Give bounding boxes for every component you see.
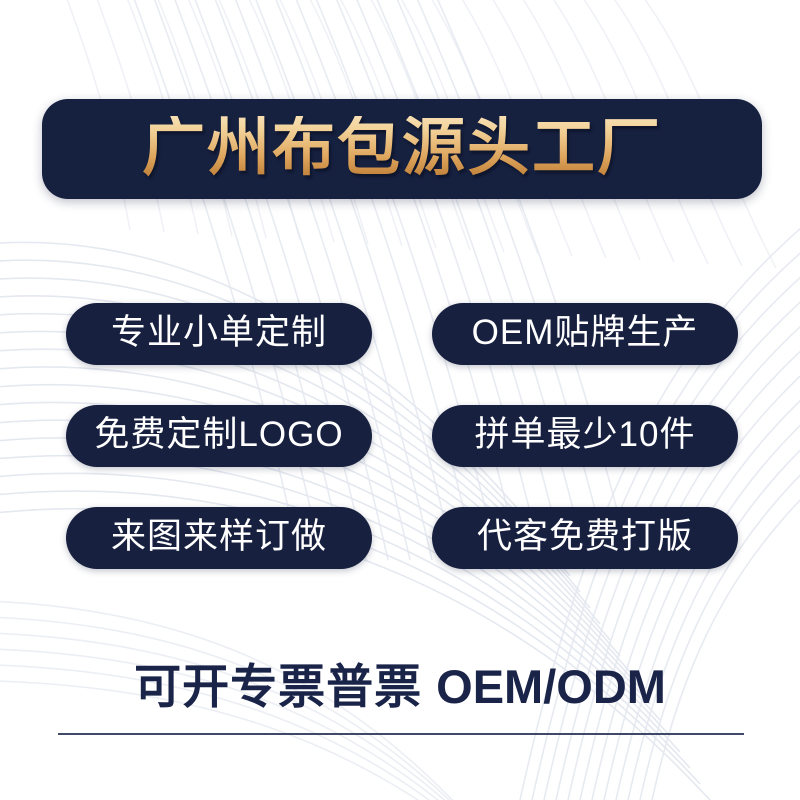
feature-custom-small-orders[interactable]: 专业小单定制 [66,303,372,365]
pill-label: OEM贴牌生产 [472,315,699,353]
pill-label: 拼单最少10件 [475,417,696,455]
pill-label: 免费定制LOGO [94,417,343,455]
feature-oem-production[interactable]: OEM贴牌生产 [432,303,738,365]
feature-min-order-10[interactable]: 拼单最少10件 [432,405,738,467]
pill-label: 代客免费打版 [477,519,693,557]
footer-chinese-text: 可开专票普票 [134,660,422,713]
feature-free-sampling[interactable]: 代客免费打版 [432,507,738,569]
footer-divider [58,733,744,735]
feature-pill-grid: 专业小单定制 OEM贴牌生产 免费定制LOGO 拼单最少10件 来图来样订做 代… [66,303,738,569]
pill-label: 来图来样订做 [111,519,327,557]
page-title: 广州布包源头工厂 [142,116,662,183]
promo-poster: 广州布包源头工厂 专业小单定制 OEM贴牌生产 免费定制LOGO 拼单最少10件… [0,0,800,800]
footer-tagline: 可开专票普票 OEM/ODM [0,662,800,713]
footer-text-row: 可开专票普票 OEM/ODM [134,662,666,713]
feature-made-to-sample[interactable]: 来图来样订做 [66,507,372,569]
pill-label: 专业小单定制 [111,315,327,353]
title-banner: 广州布包源头工厂 [42,99,762,199]
footer-latin-text: OEM/ODM [436,660,666,713]
feature-free-logo[interactable]: 免费定制LOGO [66,405,372,467]
